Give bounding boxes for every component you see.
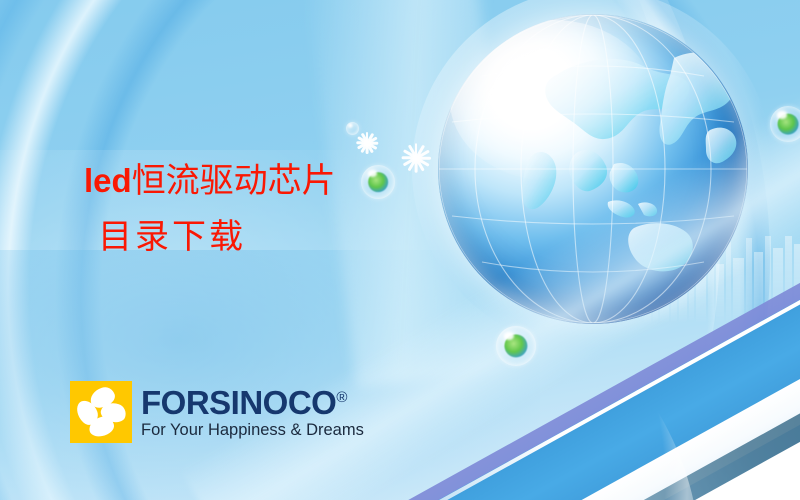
forsinoco-pinwheel-icon <box>70 381 132 443</box>
skyline-building <box>754 252 763 322</box>
headline-line-1: led恒流驱动芯片 <box>84 164 336 198</box>
skyline-building <box>765 236 771 322</box>
earth-globe <box>438 14 748 324</box>
logo-brand-name: FORSINOCO® <box>141 381 364 420</box>
bubble-leaf-lower <box>496 326 536 366</box>
registered-trademark-icon: ® <box>336 389 347 406</box>
skyline-building <box>785 236 792 322</box>
logo-brand-word: FORSINOCO <box>141 384 336 421</box>
headline-line-2: 目录下载 <box>98 220 336 254</box>
sparkle-flower-2 <box>400 142 432 174</box>
logo-tagline: For Your Happiness & Dreams <box>141 421 364 439</box>
bubble-specular <box>349 124 352 127</box>
logo-text-block: FORSINOCO® For Your Happiness & Dreams <box>141 381 364 439</box>
sparkle-flower-1 <box>355 131 379 155</box>
headline-latin: led <box>84 162 132 199</box>
bubble-right-edge <box>770 106 800 142</box>
forsinoco-logo[interactable]: FORSINOCO® For Your Happiness & Dreams <box>70 381 364 443</box>
bubble-small-upper <box>346 122 359 135</box>
globe-rim-light <box>438 14 748 324</box>
skyline-building <box>773 248 783 322</box>
bubble-globe-green <box>361 165 395 199</box>
globe-sphere <box>438 14 748 324</box>
bubble-specular <box>777 111 786 118</box>
headline-cjk: 恒流驱动芯片 <box>132 161 336 201</box>
skyline-building <box>794 244 800 322</box>
bubble-specular <box>368 170 377 177</box>
promo-banner: led恒流驱动芯片 目录下载 FORSINOCO® For Your Happi… <box>0 0 800 500</box>
headline-text: led恒流驱动芯片 目录下载 <box>84 164 336 254</box>
